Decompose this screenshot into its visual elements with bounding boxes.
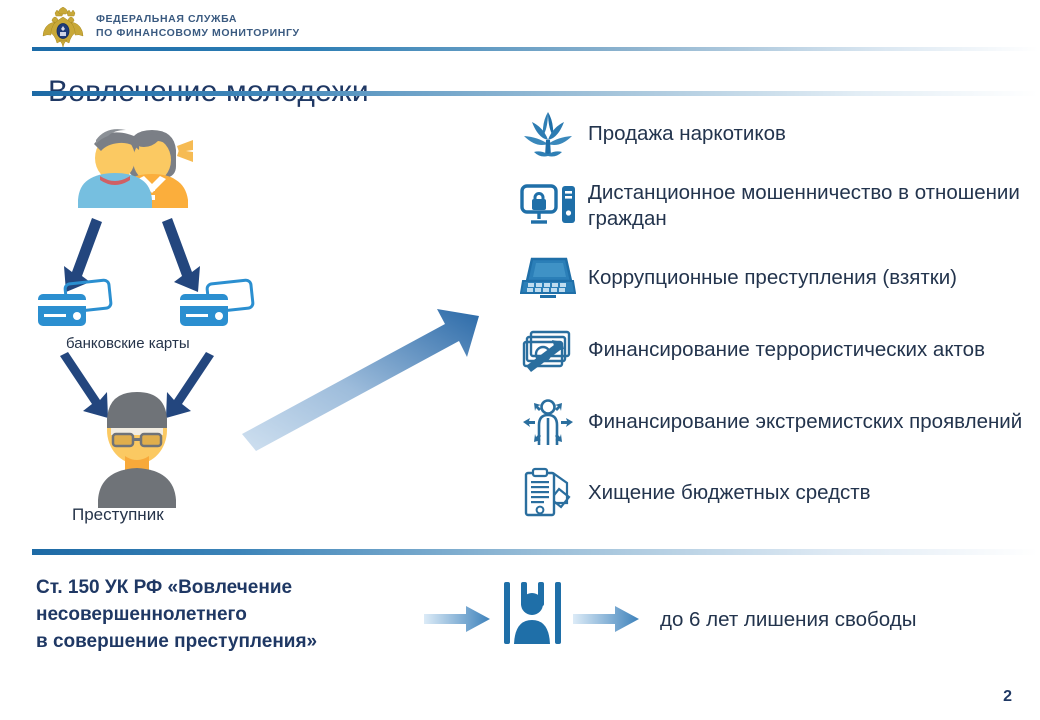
cannabis-leaf-icon	[512, 105, 584, 163]
arrow-down-inward-right-icon	[166, 352, 214, 418]
russian-coat-of-arms-icon	[42, 7, 84, 51]
list-item-label: Продажа наркотиков	[584, 121, 786, 147]
list-item-corruption[interactable]: Коррупционные преступления (взятки)	[512, 248, 1032, 308]
list-item-drugs[interactable]: Продажа наркотиков	[512, 104, 1032, 164]
list-item-extremism-financing[interactable]: Финансирование экстремистских проявлений	[512, 392, 1032, 452]
title-divider	[32, 91, 1038, 96]
slide-root: ФЕДЕРАЛЬНАЯ СЛУЖБА ПО ФИНАНСОВОМУ МОНИТО…	[0, 0, 1040, 720]
list-item-label: Финансирование экстремистских проявлений	[584, 409, 1022, 435]
arrow-down-inward-left-icon	[60, 352, 108, 418]
criminal-caption: Преступник	[72, 505, 164, 525]
involvement-diagram: банковские карты Преступник	[20, 100, 490, 545]
org-line-1: ФЕДЕРАЛЬНАЯ СЛУЖБА	[96, 12, 300, 26]
list-item-label: Финансирование террористических актов	[584, 337, 985, 363]
penalty-text: до 6 лет лишения свободы	[660, 608, 916, 632]
right-arrow-icon-2	[573, 605, 639, 638]
footer-divider	[32, 549, 1038, 555]
org-line-2: ПО ФИНАНСОВОМУ МОНИТОРИНГУ	[96, 26, 300, 40]
right-arrow-icon-1	[424, 605, 490, 638]
list-item-terrorism-financing[interactable]: Финансирование террористических актов	[512, 320, 1032, 380]
prisoner-behind-bars-icon	[500, 578, 566, 653]
list-item-label: Дистанционное мошенничество в отношении …	[584, 180, 1032, 232]
two-teenagers-icon	[78, 129, 193, 208]
list-item-budget-embezzlement[interactable]: Хищение бюджетных средств	[512, 464, 1032, 522]
big-gradient-arrow-icon	[242, 309, 479, 451]
law-line-3: в совершение преступления»	[36, 628, 317, 655]
laptop-icon	[512, 249, 584, 307]
person-with-arrows-icon	[512, 393, 584, 451]
arrow-down-right-icon	[162, 218, 200, 292]
header-divider	[32, 47, 1038, 51]
bank-cards-caption: банковские карты	[66, 335, 190, 352]
law-article-text: Ст. 150 УК РФ «Вовлечение несовершенноле…	[36, 574, 317, 655]
page-number: 2	[1003, 688, 1012, 706]
law-line-1: Ст. 150 УК РФ «Вовлечение	[36, 574, 317, 601]
organization-name: ФЕДЕРАЛЬНАЯ СЛУЖБА ПО ФИНАНСОВОМУ МОНИТО…	[96, 12, 300, 40]
list-item-label: Хищение бюджетных средств	[584, 480, 871, 506]
criminal-with-mask-icon	[98, 392, 176, 508]
monitor-lock-pc-icon	[512, 177, 584, 235]
law-line-2: несовершеннолетнего	[36, 601, 317, 628]
money-and-rifle-icon	[512, 321, 584, 379]
list-item-label: Коррупционные преступления (взятки)	[584, 265, 957, 291]
documents-and-money-icon	[512, 464, 584, 522]
crime-types-list: Продажа наркотиков	[512, 104, 1032, 526]
list-item-remote-fraud[interactable]: Дистанционное мошенничество в отношении …	[512, 176, 1032, 236]
